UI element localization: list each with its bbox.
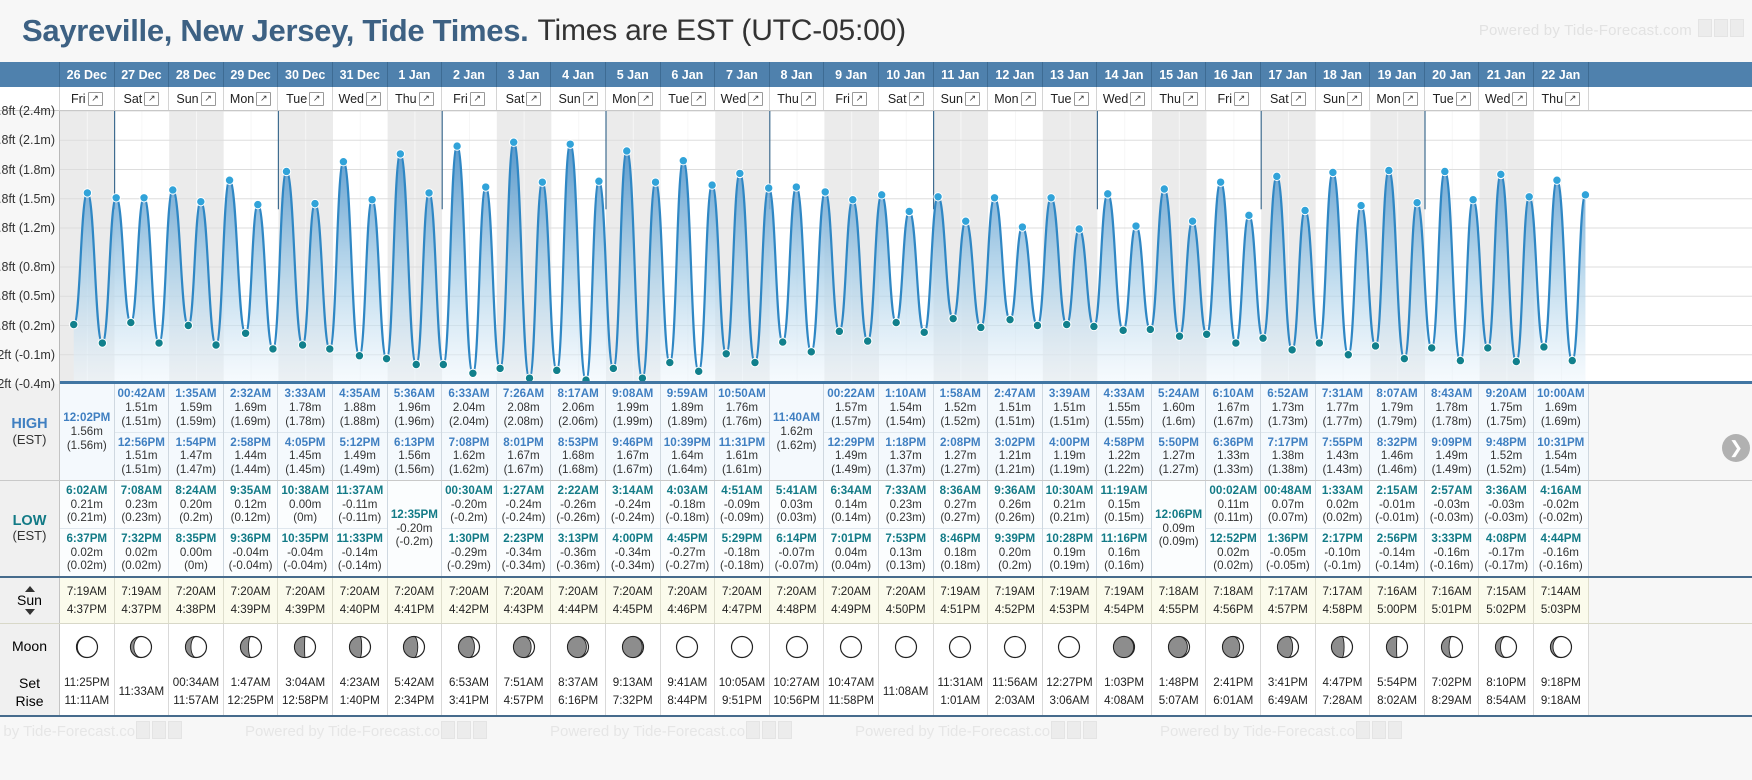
expand-day-icon[interactable]: ↗ bbox=[583, 92, 598, 106]
tide-entry: 8:35PM0.00m(0m) bbox=[169, 528, 223, 576]
footer-watermark-strip: Powered by Tide-Forecast.comPowered by T… bbox=[0, 717, 1752, 747]
tide-entry: 4:58PM1.22m(1.22m) bbox=[1097, 432, 1151, 481]
tide-time: 9:46PM bbox=[612, 436, 653, 450]
expand-day-icon[interactable]: ↗ bbox=[852, 92, 867, 106]
tide-height-alt: (1.47m) bbox=[176, 463, 216, 477]
date-header-cell[interactable]: 12 Jan bbox=[988, 62, 1043, 87]
tide-entry: 1:33AM0.02m(0.02m) bbox=[1316, 481, 1370, 528]
tide-entry: 4:44PM-0.16m(-0.16m) bbox=[1534, 528, 1588, 576]
date-header-cell[interactable]: 7 Jan bbox=[715, 62, 770, 87]
moon-rise-label-text: Rise bbox=[15, 693, 43, 709]
tide-time: 5:12PM bbox=[339, 436, 380, 450]
tide-height-alt: (-0.29m) bbox=[447, 559, 491, 573]
high-tide-marker bbox=[1216, 178, 1224, 186]
tide-time: 6:37PM bbox=[66, 532, 107, 546]
high-tide-cell: 1:35AM1.59m(1.59m)1:54PM1.47m(1.47m) bbox=[169, 384, 224, 480]
tide-time: 1:54PM bbox=[176, 436, 217, 450]
high-tide-marker bbox=[849, 196, 857, 204]
tide-height-alt: (-0.05m) bbox=[1266, 559, 1310, 573]
tide-entry: 12:56PM1.51m(1.51m) bbox=[115, 432, 169, 481]
tide-entry: 8:17AM2.06m(2.06m) bbox=[551, 384, 605, 432]
expand-day-icon[interactable]: ↗ bbox=[309, 92, 324, 106]
tide-time: 10:30AM bbox=[1046, 484, 1094, 498]
tide-height: -0.03m bbox=[1434, 498, 1470, 512]
sunrise-time: 7:19AM bbox=[995, 583, 1035, 600]
tide-height-alt: (-0.16m) bbox=[1430, 559, 1474, 573]
tide-height-alt: (-0.1m) bbox=[1324, 559, 1361, 573]
sun-cell: 7:20AM4:46PM bbox=[661, 578, 716, 623]
tide-entry: 2:32AM1.69m(1.69m) bbox=[224, 384, 278, 432]
date-header-cell[interactable]: 31 Dec bbox=[333, 62, 388, 87]
moon-setrise-cell: 9:41AM8:44PM bbox=[661, 669, 716, 715]
moon-setrise-label: Set Rise bbox=[0, 669, 60, 715]
moon-phase-icon bbox=[348, 635, 372, 659]
tide-height: 1.57m bbox=[835, 401, 867, 415]
moon-setrise-cell: 2:41PM6:01AM bbox=[1206, 669, 1261, 715]
date-header-cell[interactable]: 4 Jan bbox=[551, 62, 606, 87]
dayofweek-label: Wed bbox=[721, 92, 746, 106]
timezone-label: Times are EST (UTC-05:00) bbox=[537, 14, 905, 48]
moon-cell bbox=[1316, 624, 1371, 669]
tide-entry: 12:35PM-0.20m(-0.2m) bbox=[388, 481, 442, 576]
tide-height: 1.60m bbox=[1163, 401, 1195, 415]
tide-height-alt: (1.51m) bbox=[1050, 415, 1090, 429]
low-tide-cell: 7:33AM0.23m(0.23m)7:53PM0.13m(0.13m) bbox=[879, 481, 934, 576]
high-tide-marker bbox=[1385, 166, 1393, 174]
tide-height-alt: (0.11m) bbox=[1214, 511, 1253, 525]
tide-time: 12:29PM bbox=[828, 436, 875, 450]
high-tide-cell: 8:43AM1.78m(1.78m)9:09PM1.49m(1.49m) bbox=[1425, 384, 1480, 480]
sunrise-time: 7:14AM bbox=[1541, 583, 1581, 600]
tide-entry: 10:28PM0.19m(0.19m) bbox=[1043, 528, 1097, 576]
moon-set-time: 6:53AM bbox=[449, 674, 489, 692]
low-tide-marker bbox=[1232, 339, 1240, 347]
moon-cell bbox=[333, 624, 388, 669]
high-tide-marker bbox=[453, 142, 461, 150]
tide-height-alt: (1.64m) bbox=[667, 463, 707, 477]
moon-set-time: 3:04AM bbox=[285, 674, 325, 692]
moon-rise-time: 6:01AM bbox=[1213, 692, 1253, 710]
tide-entry: 7:08AM0.23m(0.23m) bbox=[115, 481, 169, 528]
tide-height-alt: (1.27m) bbox=[1159, 463, 1199, 477]
sunrise-time: 7:20AM bbox=[777, 583, 817, 600]
low-tide-marker bbox=[1428, 344, 1436, 352]
sunset-time: 4:45PM bbox=[613, 601, 653, 618]
tide-entry: 7:17PM1.38m(1.38m) bbox=[1261, 432, 1315, 481]
tide-time: 00:02AM bbox=[1209, 484, 1257, 498]
expand-day-icon[interactable]: ↗ bbox=[1565, 92, 1580, 106]
date-header-cell[interactable]: 26 Dec bbox=[60, 62, 115, 87]
low-tide-marker bbox=[609, 364, 617, 372]
date-header-cell[interactable]: 13 Jan bbox=[1043, 62, 1098, 87]
low-tide-marker bbox=[1484, 344, 1492, 352]
dayofweek-label: Tue bbox=[668, 92, 689, 106]
tide-entry: 5:36AM1.96m(1.96m) bbox=[388, 384, 442, 432]
high-tide-marker bbox=[140, 194, 148, 202]
tide-entry: 9:46PM1.67m(1.67m) bbox=[606, 432, 660, 481]
low-tide-marker bbox=[269, 345, 277, 353]
dayofweek-label: Sun bbox=[559, 92, 581, 106]
date-header-cell[interactable]: 8 Jan bbox=[770, 62, 825, 87]
tide-height-alt: (-0.03m) bbox=[1430, 511, 1474, 525]
expand-day-icon[interactable]: ↗ bbox=[1021, 92, 1036, 106]
tide-entry: 8:46PM0.18m(0.18m) bbox=[934, 528, 988, 576]
low-tide-marker bbox=[1175, 332, 1183, 340]
date-header-cell[interactable]: 21 Jan bbox=[1479, 62, 1534, 87]
page-header: Sayreville, New Jersey, Tide Times. Time… bbox=[0, 0, 1752, 62]
tide-entry: 2:22AM-0.26m(-0.26m) bbox=[551, 481, 605, 528]
tide-entry: 6:02AM0.21m(0.21m) bbox=[60, 481, 114, 528]
tide-entry: 8:32PM1.46m(1.46m) bbox=[1370, 432, 1424, 481]
high-tide-cell: 3:39AM1.51m(1.51m)4:00PM1.19m(1.19m) bbox=[1043, 384, 1098, 480]
date-header-cell[interactable]: 29 Dec bbox=[224, 62, 279, 87]
moon-set-time: 1:47AM bbox=[231, 674, 271, 692]
low-tide-marker bbox=[127, 318, 135, 326]
dayofweek-header-cell: Mon↗ bbox=[1370, 87, 1425, 110]
sunset-time: 4:38PM bbox=[176, 601, 216, 618]
sun-cell: 7:20AM4:44PM bbox=[551, 578, 606, 623]
tide-height: 0.13m bbox=[890, 546, 922, 560]
date-header-cell[interactable]: 17 Jan bbox=[1261, 62, 1316, 87]
tide-entry: 6:10AM1.67m(1.67m) bbox=[1206, 384, 1260, 432]
expand-day-icon[interactable]: ↗ bbox=[201, 92, 216, 106]
tide-height-alt: (-0.24m) bbox=[502, 511, 546, 525]
tide-height: -0.24m bbox=[506, 498, 542, 512]
tide-height-alt: (0m) bbox=[293, 511, 317, 525]
tide-time: 5:29PM bbox=[722, 532, 763, 546]
moon-setrise-cell: 3:04AM12:58PM bbox=[278, 669, 333, 715]
low-tide-cell: 10:38AM0.00m(0m)10:35PM-0.04m(-0.04m) bbox=[278, 481, 333, 576]
moon-rise-time: 2:03AM bbox=[995, 692, 1035, 710]
tide-entry: 10:35PM-0.04m(-0.04m) bbox=[278, 528, 332, 576]
tide-height-alt: (0m) bbox=[184, 559, 208, 573]
moon-rise-time: 4:57PM bbox=[504, 692, 544, 710]
date-header-cell[interactable]: 19 Jan bbox=[1370, 62, 1425, 87]
tide-time: 2:32AM bbox=[230, 387, 271, 401]
tide-time: 7:17PM bbox=[1268, 436, 1309, 450]
dayofweek-label: Tue bbox=[286, 92, 307, 106]
moon-set-time: 11:25PM bbox=[64, 674, 110, 692]
y-axis-tick-label: 0.8ft (0.2m) bbox=[0, 319, 55, 333]
tide-time: 4:03AM bbox=[667, 484, 708, 498]
expand-day-icon[interactable]: ↗ bbox=[691, 92, 706, 106]
moon-label-text: Moon bbox=[12, 638, 47, 654]
moon-phase-icon bbox=[1057, 635, 1081, 659]
tide-height: -0.11m bbox=[342, 498, 377, 512]
tide-time: 10:28PM bbox=[1046, 532, 1093, 546]
moon-rise-time: 7:28AM bbox=[1322, 692, 1362, 710]
low-tide-marker bbox=[184, 321, 192, 329]
dayofweek-label: Wed bbox=[1485, 92, 1510, 106]
tide-height-alt: (1.99m) bbox=[613, 415, 653, 429]
date-header-cell[interactable]: 20 Jan bbox=[1425, 62, 1480, 87]
tide-time: 2:15AM bbox=[1376, 484, 1417, 498]
expand-day-icon[interactable]: ↗ bbox=[1234, 92, 1249, 106]
moon-rise-time: 4:08AM bbox=[1104, 692, 1144, 710]
tide-entry: 9:59AM1.89m(1.89m) bbox=[661, 384, 715, 432]
tide-height-alt: (1.52m) bbox=[1486, 463, 1526, 477]
moon-cell bbox=[824, 624, 879, 669]
tide-height: 1.54m bbox=[1545, 449, 1577, 463]
tide-height-alt: (-0.18m) bbox=[665, 511, 709, 525]
high-tide-cell: 2:47AM1.51m(1.51m)3:02PM1.21m(1.21m) bbox=[988, 384, 1043, 480]
sunset-time: 4:53PM bbox=[1050, 601, 1090, 618]
header-watermark: Powered by Tide-Forecast.com bbox=[1479, 22, 1692, 39]
low-tide-marker bbox=[70, 320, 78, 328]
date-header-cell[interactable]: 16 Jan bbox=[1206, 62, 1261, 87]
moon-phase-icon bbox=[1276, 635, 1300, 659]
tide-entry: 6:33AM2.04m(2.04m) bbox=[442, 384, 496, 432]
tide-time: 1:35AM bbox=[175, 387, 216, 401]
tide-height: -0.20m bbox=[396, 522, 432, 536]
date-header-cell[interactable]: 27 Dec bbox=[115, 62, 170, 87]
tide-time: 3:33PM bbox=[1431, 532, 1472, 546]
low-tide-marker bbox=[892, 318, 900, 326]
sunrise-time: 7:20AM bbox=[340, 583, 380, 600]
tide-time: 7:08AM bbox=[121, 484, 162, 498]
tide-height: 1.54m bbox=[890, 401, 922, 415]
high-tide-marker bbox=[566, 140, 574, 148]
expand-day-icon[interactable]: ↗ bbox=[88, 92, 103, 106]
tide-entry: 00:22AM1.57m(1.57m) bbox=[824, 384, 878, 432]
low-tide-marker bbox=[751, 358, 759, 366]
tide-entry: 8:01PM1.67m(1.67m) bbox=[497, 432, 551, 481]
tide-entry: 1:10AM1.54m(1.54m) bbox=[879, 384, 933, 432]
moon-rise-time: 3:06AM bbox=[1050, 692, 1090, 710]
tide-entry: 4:00PM1.19m(1.19m) bbox=[1043, 432, 1097, 481]
footer-watermark: Powered by Tide-Forecast.com bbox=[1160, 723, 1368, 740]
moon-set-time: 7:51AM bbox=[504, 674, 544, 692]
tide-height-alt: (-0.2m) bbox=[396, 535, 433, 549]
moon-phase-icon bbox=[1003, 635, 1027, 659]
tide-height: 0.20m bbox=[180, 498, 212, 512]
tide-height-alt: (-0.26m) bbox=[556, 511, 600, 525]
sunrise-time: 7:15AM bbox=[1486, 583, 1526, 600]
high-tide-marker bbox=[1188, 217, 1196, 225]
sunrise-time: 7:20AM bbox=[886, 583, 926, 600]
dayofweek-header-cell: Thu↗ bbox=[388, 87, 443, 110]
date-header-cell[interactable]: 18 Jan bbox=[1316, 62, 1371, 87]
expand-day-icon[interactable]: ↗ bbox=[909, 92, 924, 106]
tide-entry: 4:35AM1.88m(1.88m) bbox=[333, 384, 387, 432]
tide-height-alt: (1.51m) bbox=[121, 463, 161, 477]
high-tide-marker bbox=[679, 157, 687, 165]
expand-day-icon[interactable]: ↗ bbox=[366, 92, 381, 106]
footer-watermark-icon-1 bbox=[1051, 721, 1065, 739]
moon-phase-icon bbox=[129, 635, 153, 659]
date-header-cell[interactable]: 1 Jan bbox=[388, 62, 443, 87]
tide-time: 7:01PM bbox=[831, 532, 872, 546]
date-header-cell[interactable]: 3 Jan bbox=[497, 62, 552, 87]
expand-day-icon[interactable]: ↗ bbox=[256, 92, 271, 106]
high-tide-marker bbox=[510, 138, 518, 146]
tide-entry: 4:08PM-0.17m(-0.17m) bbox=[1479, 528, 1533, 576]
sunrise-time: 7:19AM bbox=[67, 583, 107, 600]
sunset-time: 4:37PM bbox=[67, 601, 107, 618]
moon-phase-icon bbox=[1167, 635, 1191, 659]
tide-time: 4:51AM bbox=[721, 484, 762, 498]
dayofweek-header-cell: Fri↗ bbox=[824, 87, 879, 110]
high-tide-marker bbox=[1553, 176, 1561, 184]
sunset-time: 4:50PM bbox=[886, 601, 926, 618]
sun-cell: 7:16AM5:00PM bbox=[1370, 578, 1425, 623]
date-header-cell[interactable]: 22 Jan bbox=[1534, 62, 1589, 87]
expand-day-icon[interactable]: ↗ bbox=[526, 92, 541, 106]
tide-time: 11:19AM bbox=[1101, 484, 1148, 498]
tide-entry: 9:09PM1.49m(1.49m) bbox=[1425, 432, 1479, 481]
dayofweek-header-cell: Wed↗ bbox=[715, 87, 770, 110]
tide-height-alt: (1.88m) bbox=[340, 415, 380, 429]
dayofweek-header-cell: Sun↗ bbox=[934, 87, 989, 110]
low-tide-marker bbox=[1033, 321, 1041, 329]
tide-entry: 11:40AM1.62m(1.62m) bbox=[770, 384, 824, 480]
sunrise-time: 7:20AM bbox=[176, 583, 216, 600]
tide-time: 4:08PM bbox=[1486, 532, 1527, 546]
sunset-time: 5:02PM bbox=[1486, 601, 1526, 618]
date-header-cell[interactable]: 2 Jan bbox=[442, 62, 497, 87]
tide-height: 1.51m bbox=[1053, 401, 1085, 415]
moon-cell bbox=[224, 624, 279, 669]
low-tide-marker bbox=[582, 376, 590, 384]
moon-set-time: 2:41PM bbox=[1213, 674, 1253, 692]
high-tide-marker bbox=[1329, 168, 1337, 176]
expand-day-icon[interactable]: ↗ bbox=[419, 92, 434, 106]
high-tide-marker bbox=[482, 183, 490, 191]
high-tide-cell: 1:58AM1.52m(1.52m)2:08PM1.27m(1.27m) bbox=[934, 384, 989, 480]
tide-time: 8:01PM bbox=[503, 436, 544, 450]
expand-day-icon[interactable]: ↗ bbox=[1130, 92, 1145, 106]
tide-height-alt: (0.12m) bbox=[231, 511, 271, 525]
low-tide-marker bbox=[326, 345, 334, 353]
tide-entry: 9:48PM1.52m(1.52m) bbox=[1479, 432, 1533, 481]
moon-cell bbox=[278, 624, 333, 669]
footer-watermark-icon-1 bbox=[441, 721, 455, 739]
date-header-cell[interactable]: 11 Jan bbox=[934, 62, 989, 87]
tide-height-alt: (1.27m) bbox=[940, 463, 980, 477]
expand-day-icon[interactable]: ↗ bbox=[470, 92, 485, 106]
scroll-right-button[interactable]: ❯ bbox=[1722, 434, 1750, 462]
moon-set-time: 4:23AM bbox=[340, 674, 380, 692]
dayofweek-label: Fri bbox=[71, 92, 86, 106]
date-header-cell[interactable]: 28 Dec bbox=[169, 62, 224, 87]
tide-height-alt: (-0.34m) bbox=[611, 559, 655, 573]
high-tide-marker bbox=[651, 178, 659, 186]
tide-height: 0.07m bbox=[1272, 498, 1304, 512]
tide-time: 2:47AM bbox=[994, 387, 1035, 401]
expand-day-icon[interactable]: ↗ bbox=[1291, 92, 1306, 106]
tide-entry: 2:58PM1.44m(1.44m) bbox=[224, 432, 278, 481]
low-tide-marker bbox=[863, 337, 871, 345]
sunset-time: 5:03PM bbox=[1541, 601, 1581, 618]
tide-height: 1.89m bbox=[671, 401, 703, 415]
dayofweek-label: Fri bbox=[453, 92, 468, 106]
chart-plot-area bbox=[60, 111, 1752, 384]
tide-entry: 9:36AM0.26m(0.26m) bbox=[988, 481, 1042, 528]
tide-height: -0.04m bbox=[287, 546, 323, 560]
tide-height: 1.55m bbox=[1108, 401, 1140, 415]
high-tide-cell: 10:00AM1.69m(1.69m)10:31PM1.54m(1.54m) bbox=[1534, 384, 1589, 480]
tide-height-alt: (-0.36m) bbox=[556, 559, 600, 573]
dayofweek-label: Mon bbox=[230, 92, 254, 106]
low-tide-cell: 1:33AM0.02m(0.02m)2:17PM-0.10m(-0.1m) bbox=[1316, 481, 1371, 576]
sunrise-time: 7:17AM bbox=[1268, 583, 1308, 600]
moon-set-time: 3:41PM bbox=[1268, 674, 1308, 692]
dayofweek-label: Tue bbox=[1433, 92, 1454, 106]
sunrise-time: 7:20AM bbox=[667, 583, 707, 600]
expand-day-icon[interactable]: ↗ bbox=[1347, 92, 1362, 106]
high-tide-cell: 3:33AM1.78m(1.78m)4:05PM1.45m(1.45m) bbox=[278, 384, 333, 480]
moon-setrise-cell: 6:53AM3:41PM bbox=[442, 669, 497, 715]
y-axis-tick-label: 5.8ft (1.8m) bbox=[0, 163, 55, 177]
expand-day-icon[interactable]: ↗ bbox=[748, 92, 763, 106]
dayofweek-header-cell: Fri↗ bbox=[1206, 87, 1261, 110]
low-tide-cell: 9:35AM0.12m(0.12m)9:36PM-0.04m(-0.04m) bbox=[224, 481, 279, 576]
tide-time: 3:33AM bbox=[285, 387, 326, 401]
dayofweek-header-cell: Tue↗ bbox=[1425, 87, 1480, 110]
expand-day-icon[interactable]: ↗ bbox=[1403, 92, 1418, 106]
tide-height: -0.34m bbox=[506, 546, 542, 560]
high-tide-cell: 8:17AM2.06m(2.06m)8:53PM1.68m(1.68m) bbox=[551, 384, 606, 480]
watermark-icon-3 bbox=[1730, 19, 1744, 37]
tide-time: 10:35PM bbox=[282, 532, 329, 546]
tide-time: 3:02PM bbox=[995, 436, 1036, 450]
expand-day-icon[interactable]: ↗ bbox=[1456, 92, 1471, 106]
tide-time: 9:20AM bbox=[1486, 387, 1527, 401]
sun-cell: 7:17AM4:58PM bbox=[1316, 578, 1371, 623]
dayofweek-label: Wed bbox=[1103, 92, 1128, 106]
sun-cell: 7:20AM4:45PM bbox=[606, 578, 661, 623]
expand-day-icon[interactable]: ↗ bbox=[801, 92, 816, 106]
dayofweek-header-cell: Mon↗ bbox=[224, 87, 279, 110]
moon-setrise-cell: 12:27PM3:06AM bbox=[1043, 669, 1098, 715]
sun-cell: 7:17AM4:57PM bbox=[1261, 578, 1316, 623]
date-header-cell[interactable]: 9 Jan bbox=[824, 62, 879, 87]
expand-day-icon[interactable]: ↗ bbox=[1183, 92, 1198, 106]
date-header-cell[interactable]: 15 Jan bbox=[1152, 62, 1207, 87]
tide-entry: 4:51AM-0.09m(-0.09m) bbox=[715, 481, 769, 528]
moon-setrise-cell: 5:42AM2:34PM bbox=[388, 669, 443, 715]
date-header-cell[interactable]: 14 Jan bbox=[1097, 62, 1152, 87]
tide-height: 1.78m bbox=[289, 401, 321, 415]
expand-day-icon[interactable]: ↗ bbox=[638, 92, 653, 106]
tide-height-alt: (0.19m) bbox=[1050, 559, 1090, 573]
date-header-cell[interactable]: 6 Jan bbox=[661, 62, 716, 87]
expand-day-icon[interactable]: ↗ bbox=[1074, 92, 1089, 106]
tide-entry: 10:50AM1.76m(1.76m) bbox=[715, 384, 769, 432]
moon-setrise-cell: 9:18PM9:18AM bbox=[1534, 669, 1589, 715]
y-axis-tick-label: 2.8ft (0.8m) bbox=[0, 260, 55, 274]
date-header-cell[interactable]: 5 Jan bbox=[606, 62, 661, 87]
tide-height: -0.17m bbox=[1488, 546, 1524, 560]
tide-time: 7:08PM bbox=[449, 436, 490, 450]
tide-time: 4:58PM bbox=[1104, 436, 1145, 450]
tide-time: 8:43AM bbox=[1431, 387, 1472, 401]
expand-day-icon[interactable]: ↗ bbox=[965, 92, 980, 106]
sunset-time: 4:56PM bbox=[1213, 601, 1253, 618]
date-header-cell[interactable]: 10 Jan bbox=[879, 62, 934, 87]
moon-cell bbox=[770, 624, 825, 669]
tide-entry: 5:24AM1.60m(1.6m) bbox=[1152, 384, 1206, 432]
expand-day-icon[interactable]: ↗ bbox=[1512, 92, 1527, 106]
sunrise-time: 7:16AM bbox=[1432, 583, 1472, 600]
tide-height: -0.18m bbox=[669, 498, 705, 512]
date-header-cell[interactable]: 30 Dec bbox=[278, 62, 333, 87]
tide-height-alt: (1.78m) bbox=[1432, 415, 1472, 429]
expand-day-icon[interactable]: ↗ bbox=[144, 92, 159, 106]
tide-time: 8:17AM bbox=[558, 387, 599, 401]
sun-cell: 7:14AM5:03PM bbox=[1534, 578, 1589, 623]
tide-entry: 10:39PM1.64m(1.64m) bbox=[661, 432, 715, 481]
